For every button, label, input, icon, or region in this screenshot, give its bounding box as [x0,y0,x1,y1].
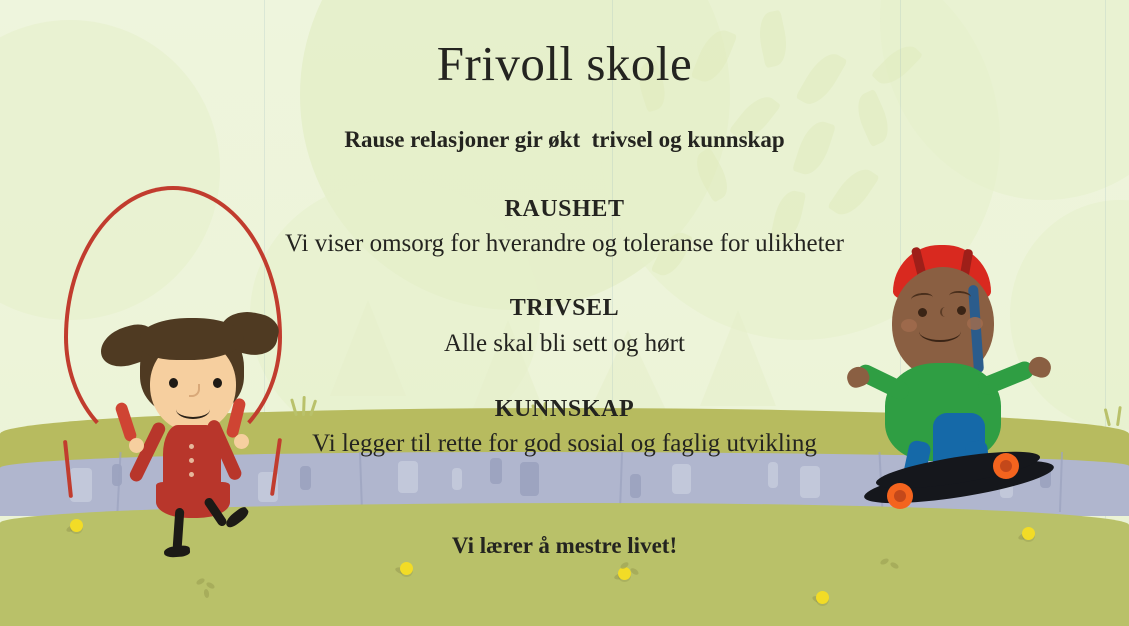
value-body-kunnskap: Vi legger til rette for god sosial og fa… [0,430,1129,458]
value-body-trivsel: Alle skal bli sett og hørt [0,330,1129,358]
poster-tagline: Rause relasjoner gir økt trivsel og kunn… [0,127,1129,153]
value-heading-trivsel: TRIVSEL [0,295,1129,322]
poster-text-layer: Frivoll skole Rause relasjoner gir økt t… [0,0,1129,626]
page-title: Frivoll skole [0,35,1129,92]
value-heading-raushet: RAUSHET [0,196,1129,223]
poster-canvas: Frivoll skole Rause relasjoner gir økt t… [0,0,1129,626]
poster-footer-slogan: Vi lærer å mestre livet! [0,533,1129,559]
value-body-raushet: Vi viser omsorg for hverandre og toleran… [0,230,1129,258]
value-heading-kunnskap: KUNNSKAP [0,396,1129,423]
